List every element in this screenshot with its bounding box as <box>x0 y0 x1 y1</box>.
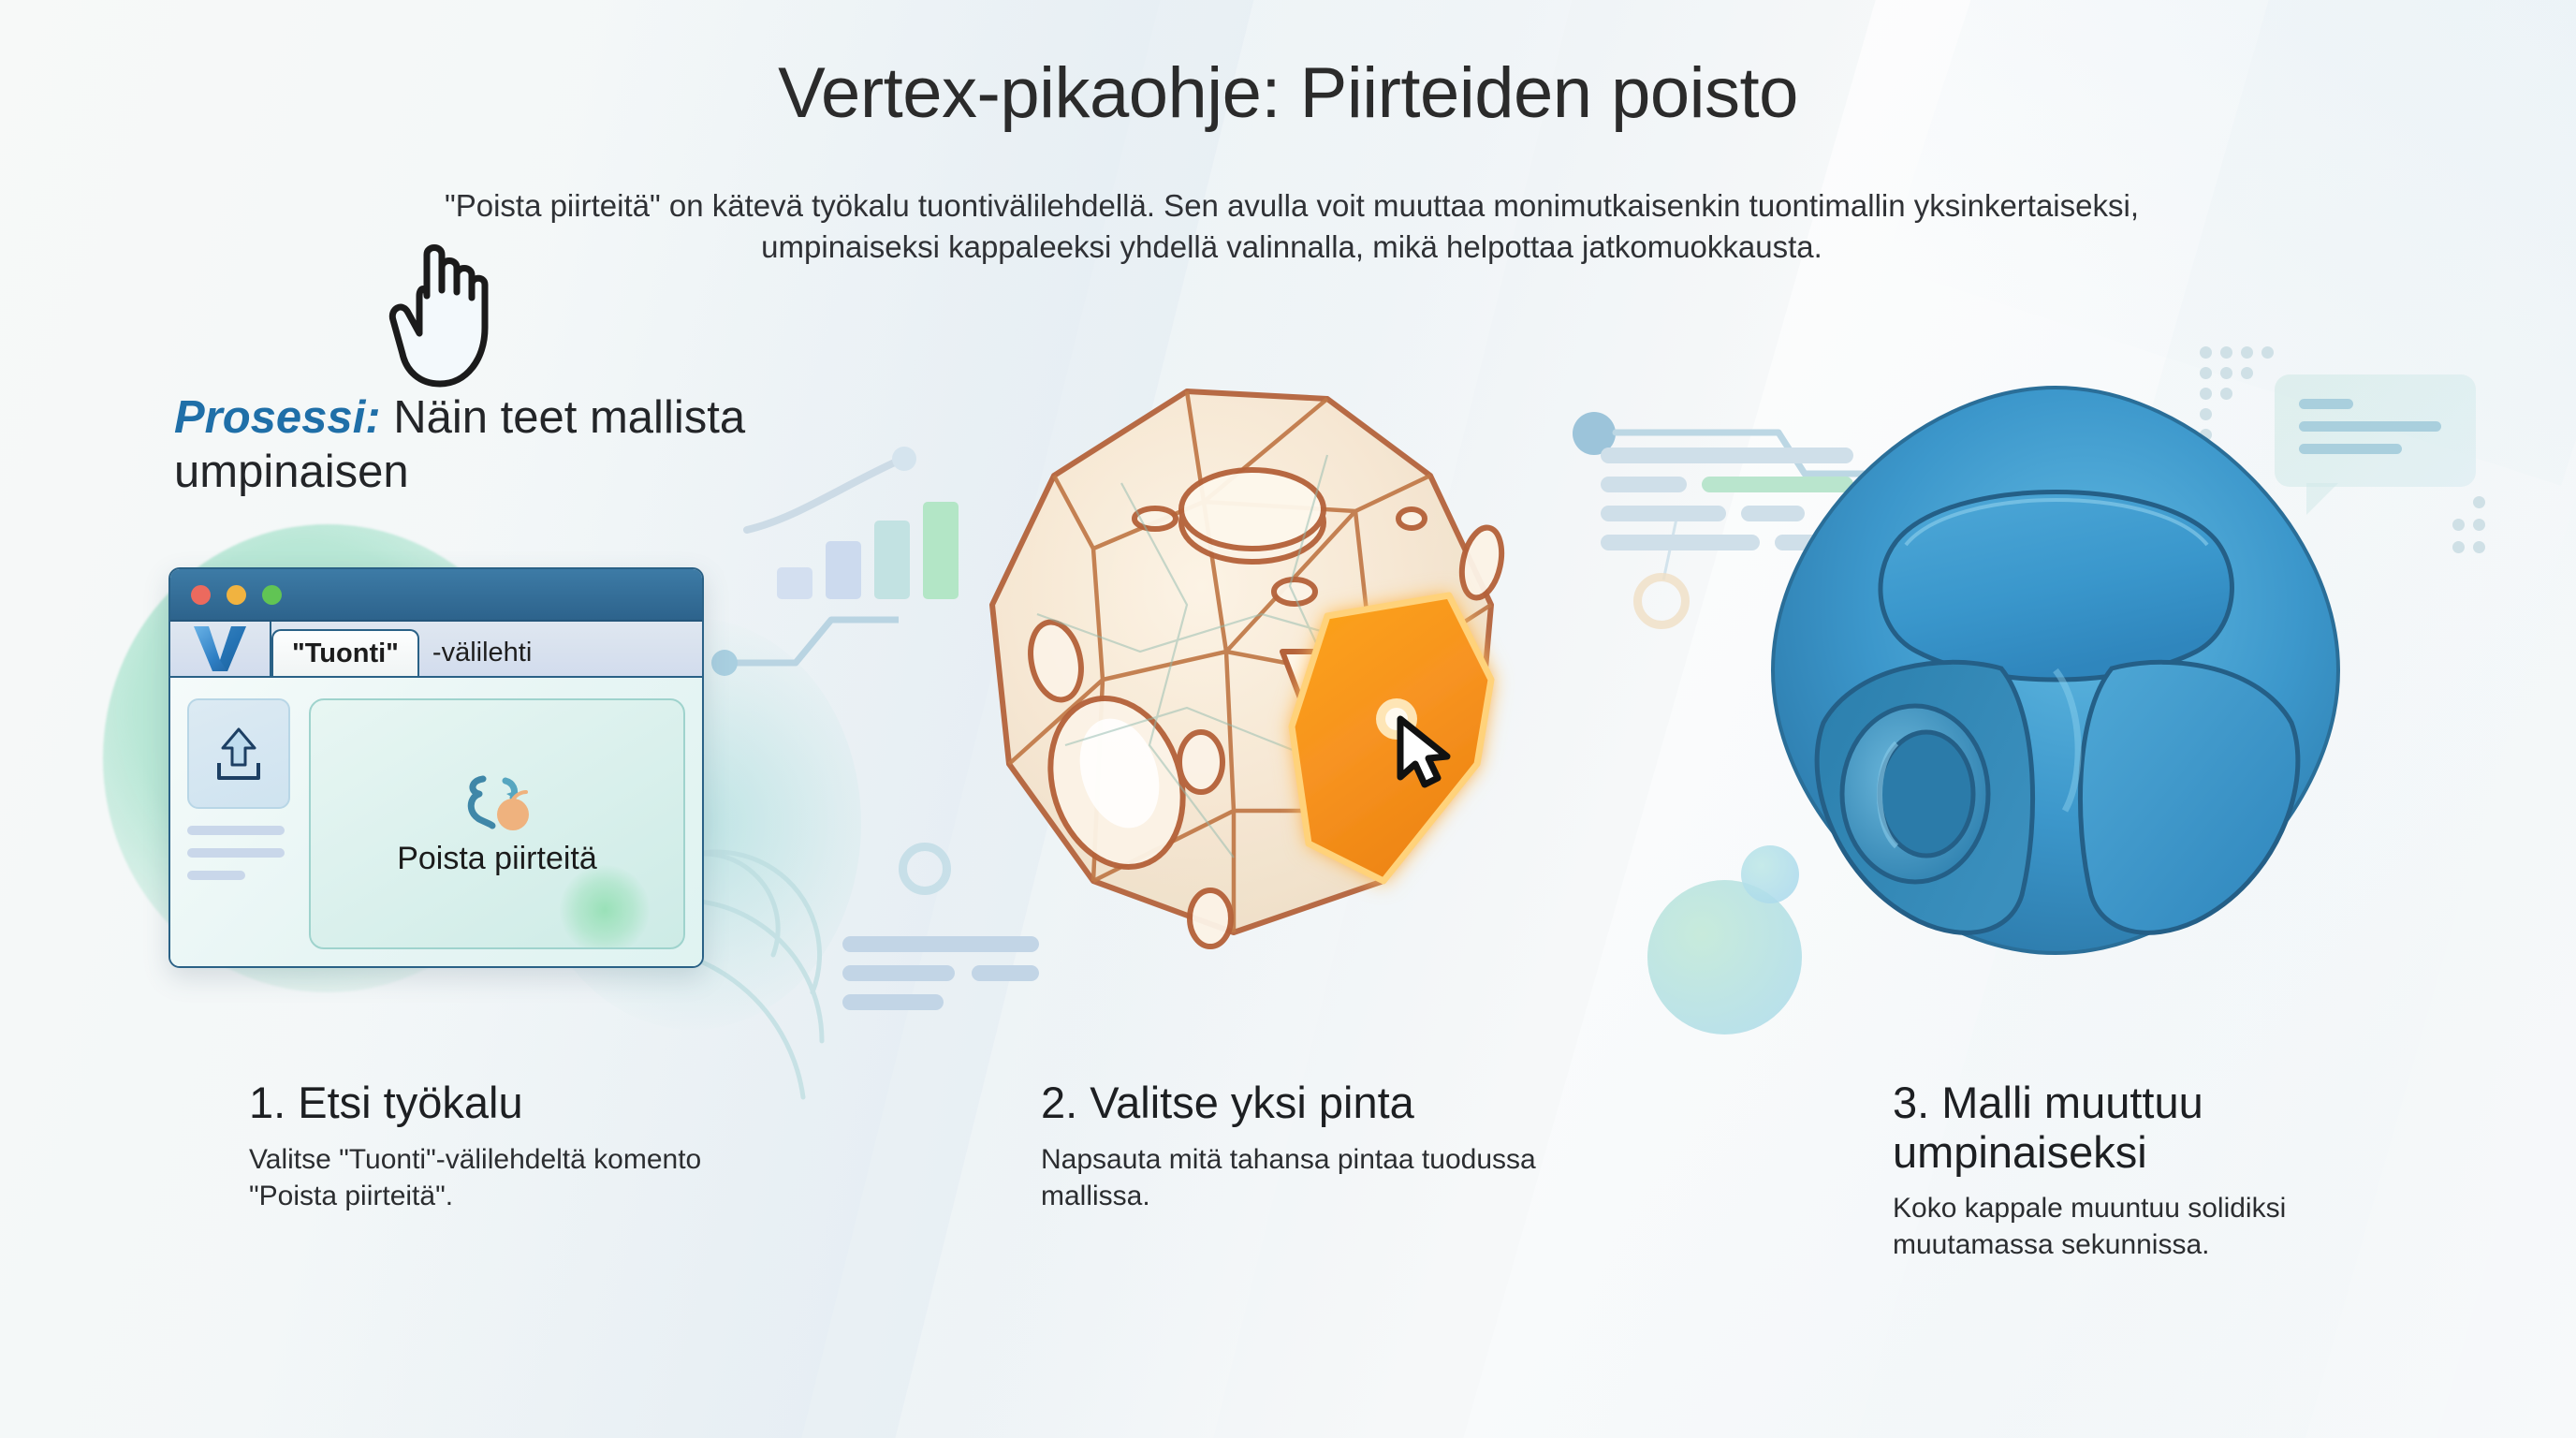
tab-tuonti-label: "Tuonti" <box>292 638 399 669</box>
close-traffic-light-icon[interactable] <box>191 585 211 605</box>
wireframe-polyhedron <box>953 371 1552 970</box>
decor-bar-3 <box>874 521 910 599</box>
maximize-traffic-light-icon[interactable] <box>262 585 282 605</box>
minimize-traffic-light-icon[interactable] <box>227 585 246 605</box>
decor-bar-1 <box>777 567 812 599</box>
poista-piirteita-button[interactable]: Poista piirteitä <box>309 698 685 949</box>
process-accent-label: Prosessi: <box>174 392 381 443</box>
hand-pointer-icon <box>382 223 522 401</box>
step-3-title: 3. Malli muuttuu umpinaiseksi <box>1893 1078 2454 1177</box>
step-2-title: 2. Valitse yksi pinta <box>1041 1078 1565 1128</box>
step-2-caption: 2. Valitse yksi pinta Napsauta mitä taha… <box>1041 1078 1565 1214</box>
browser-tabstrip: "Tuonti" -välilehti <box>170 622 702 678</box>
click-glow-effect <box>560 865 650 949</box>
infographic-canvas: Vertex-pikaohje: Piirteiden poisto "Pois… <box>0 0 2576 1438</box>
blue-rounded-cube <box>1756 371 2355 970</box>
decor-bar-2 <box>826 541 861 599</box>
ring-decoration-blue <box>899 843 951 895</box>
sidebar-placeholder-lines <box>187 826 290 880</box>
step-3-caption: 3. Malli muuttuu umpinaiseksi Koko kappa… <box>1893 1078 2454 1263</box>
bar-chart-decoration <box>777 468 964 599</box>
browser-content-area: Poista piirteitä <box>170 678 702 968</box>
step-1-caption: 1. Etsi työkalu Valitse "Tuonti"-välileh… <box>249 1078 773 1214</box>
app-logo-icon <box>170 622 271 676</box>
upload-icon <box>210 724 268 784</box>
step-1-title: 1. Etsi työkalu <box>249 1078 773 1128</box>
ring-decoration-amber <box>1633 573 1690 629</box>
defeature-icon <box>459 771 535 835</box>
process-heading: Prosessi: Näin teet mallista umpinaisen <box>174 391 829 500</box>
browser-titlebar <box>170 569 702 622</box>
step-1-desc: Valitse "Tuonti"-välilehdeltä komento "P… <box>249 1141 773 1214</box>
tab-suffix-label: -välilehti <box>419 629 545 676</box>
poista-piirteita-label: Poista piirteitä <box>397 841 597 877</box>
page-title: Vertex-pikaohje: Piirteiden poisto <box>0 52 2576 134</box>
upload-button[interactable] <box>187 698 290 809</box>
page-subtitle: "Poista piirteitä" on kätevä työkalu tuo… <box>356 185 2228 268</box>
browser-window-mockup: "Tuonti" -välilehti <box>168 567 704 968</box>
tab-tuonti[interactable]: "Tuonti" <box>271 629 419 676</box>
step-2-desc: Napsauta mitä tahansa pintaa tuodussa ma… <box>1041 1141 1565 1214</box>
browser-sidebar <box>187 698 290 949</box>
step-3-desc: Koko kappale muuntuu solidiksi muutamass… <box>1893 1190 2454 1263</box>
